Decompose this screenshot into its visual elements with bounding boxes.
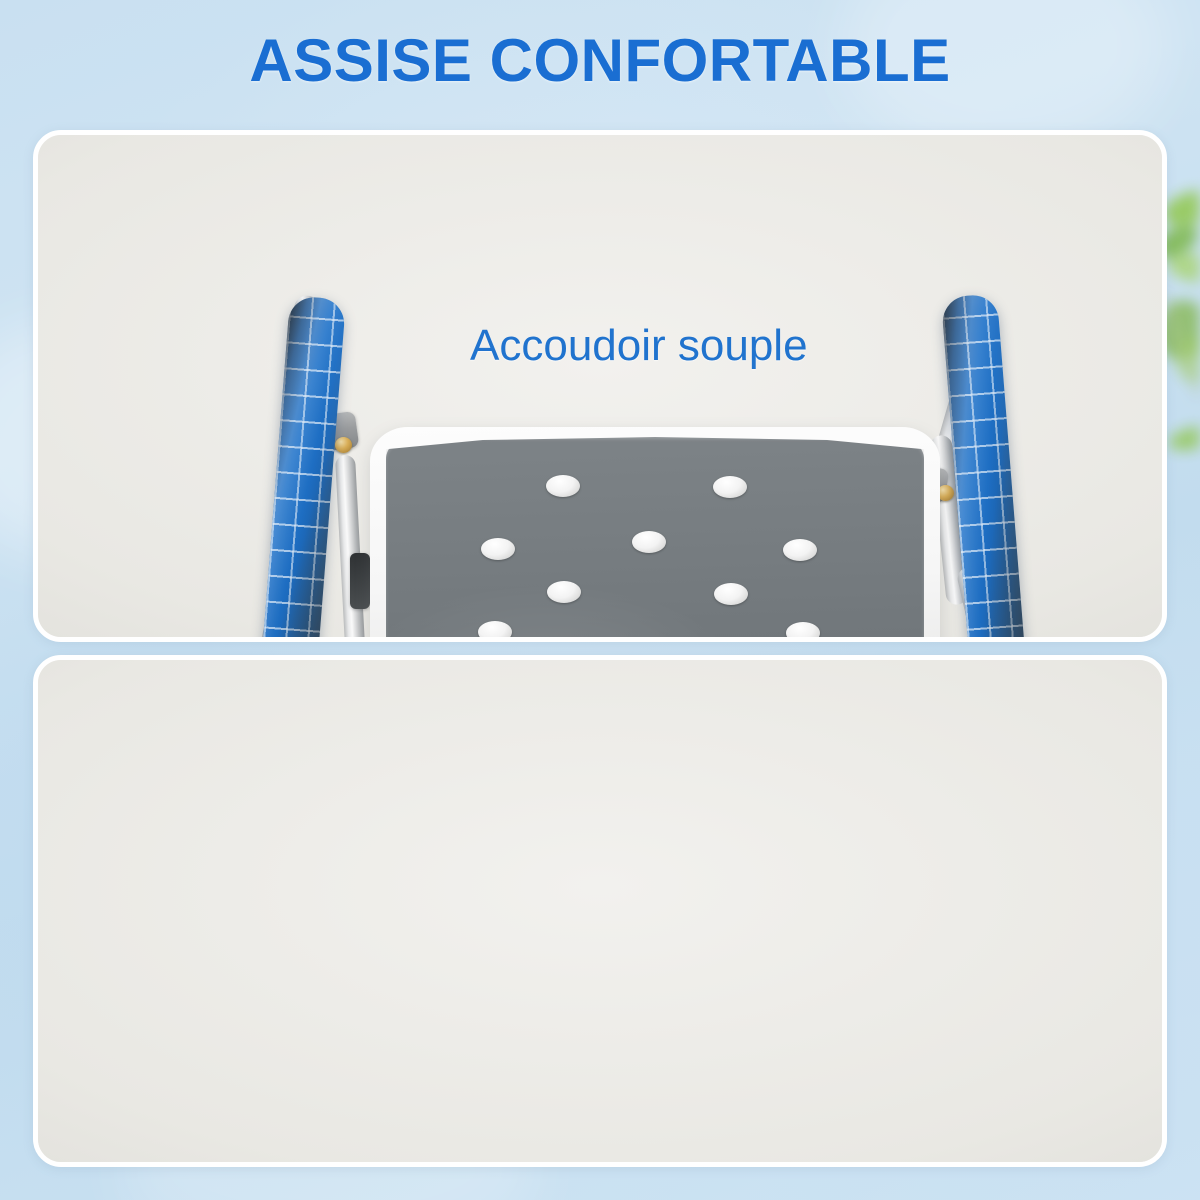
product-illustration-armrest [38,135,1162,637]
feature-panel-cushion: Coussin Eva [33,655,1167,1167]
feature-panel-armrest: Accoudoir souple [33,130,1167,642]
product-illustration-cushion [38,660,1162,1162]
drain-bump [481,538,515,560]
drain-bump [547,581,581,603]
drain-bump [786,622,820,642]
frame-tube-left-rear [335,455,367,642]
panel-label-armrest: Accoudoir souple [470,321,808,371]
adjustment-knob-left [335,437,352,453]
drain-bump [714,583,748,605]
drain-bump [783,539,817,561]
grip-highlight [258,295,346,642]
drain-bump [546,475,580,497]
marketing-image: { "header": { "title": "ASSISE CONFORTAB… [0,0,1200,1200]
drain-bump [713,476,747,498]
drain-bump [632,531,666,553]
frame-joint-left [350,553,370,609]
page-title: ASSISE CONFORTABLE [0,26,1200,95]
armrest-grip-left [258,295,346,642]
drain-bump [478,621,512,642]
